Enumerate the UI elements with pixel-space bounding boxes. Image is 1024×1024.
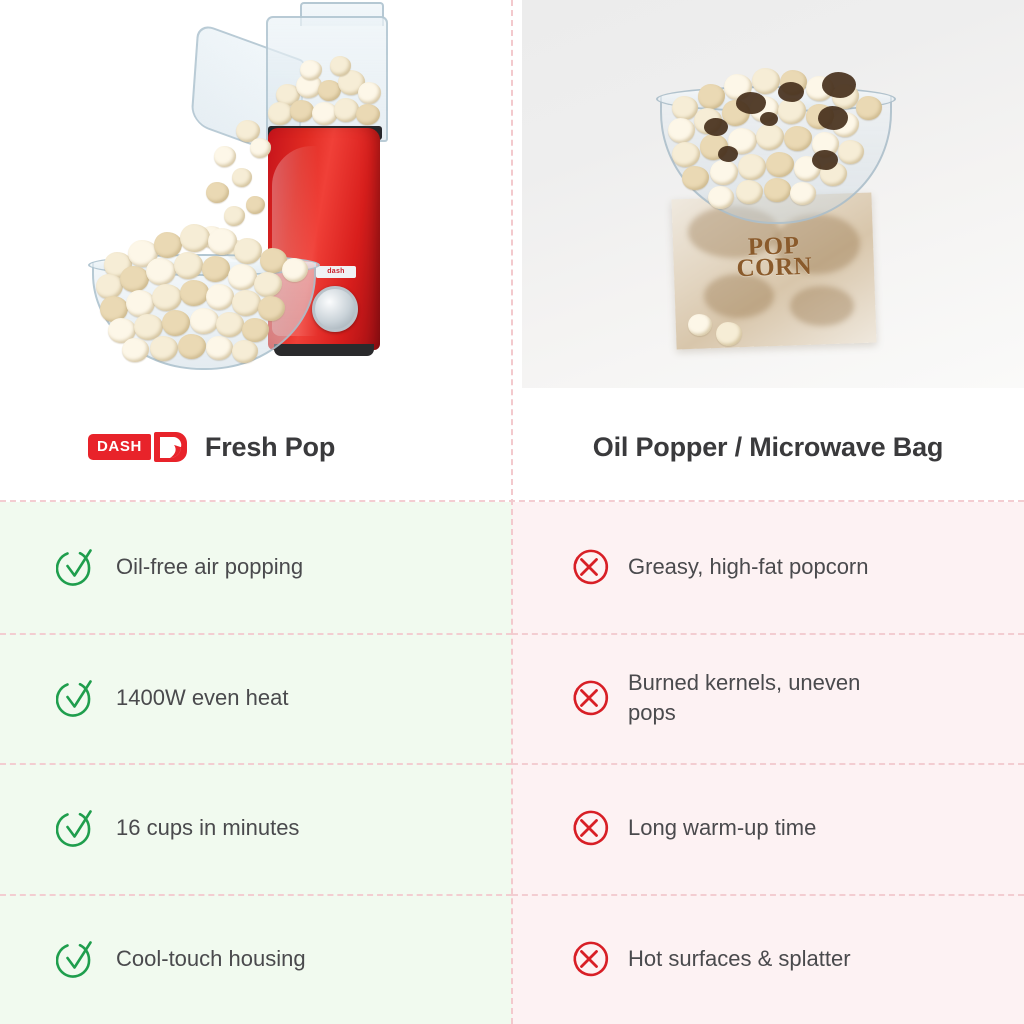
feature-text: Cool-touch housing <box>116 944 306 974</box>
check-circle-icon <box>56 546 98 588</box>
check-circle-icon <box>56 677 98 719</box>
cross-circle-icon <box>568 807 610 849</box>
column-divider <box>511 0 513 1024</box>
bag-popcorn-label: POP CORN <box>673 233 874 282</box>
cross-circle-icon <box>568 677 610 719</box>
burnt-cluster <box>704 118 728 136</box>
feature-text: 16 cups in minutes <box>116 813 299 843</box>
kernel <box>214 146 236 167</box>
feature-text: Hot surfaces & splatter <box>628 944 851 974</box>
kernel <box>206 182 229 203</box>
popper-brand-plate: dash <box>316 266 356 278</box>
burnt-cluster <box>760 112 778 126</box>
dash-brand-logo: DASH <box>88 432 187 462</box>
grease-stain <box>790 286 854 326</box>
feature-row: Burned kernels, uneven pops <box>512 633 1024 764</box>
feature-row: 1400W even heat <box>0 633 512 764</box>
check-circle-icon <box>56 938 98 980</box>
feature-row: Greasy, high-fat popcorn <box>512 502 1024 633</box>
oil-popper-photo: POP CORN <box>522 0 1024 388</box>
right-column-title: Oil Popper / Microwave Bag <box>593 432 943 463</box>
comparison-infographic: dash <box>0 0 1024 1024</box>
feature-row: Cool-touch housing <box>0 894 512 1024</box>
feature-text: Burned kernels, uneven pops <box>628 668 878 728</box>
kernel <box>232 168 252 187</box>
feature-row: Oil-free air popping <box>0 502 512 633</box>
burnt-cluster <box>718 146 738 162</box>
popper-power-knob <box>312 286 358 332</box>
feature-text: Oil-free air popping <box>116 552 303 582</box>
dash-popper-photo: dash <box>0 0 512 392</box>
kernel <box>122 338 149 362</box>
feature-row: Hot surfaces & splatter <box>512 894 1024 1024</box>
burnt-cluster <box>778 82 804 102</box>
dash-d-badge-icon <box>154 432 187 462</box>
kernel <box>180 224 210 252</box>
cross-circle-icon <box>568 938 610 980</box>
feature-text: 1400W even heat <box>116 683 288 713</box>
right-column-header: Oil Popper / Microwave Bag <box>512 392 1024 502</box>
cross-circle-icon <box>568 546 610 588</box>
burnt-cluster <box>812 150 838 170</box>
kernel <box>224 206 245 226</box>
pros-column: Oil-free air popping 1400W even heat <box>0 502 512 1024</box>
burnt-cluster <box>818 106 848 130</box>
burnt-cluster <box>736 92 766 114</box>
left-column-title: Fresh Pop <box>205 432 335 463</box>
check-circle-icon <box>56 807 98 849</box>
left-column-header: DASH Fresh Pop <box>0 392 512 502</box>
dash-wordmark: DASH <box>88 434 151 460</box>
feature-row: 16 cups in minutes <box>0 763 512 894</box>
feature-text: Greasy, high-fat popcorn <box>628 552 869 582</box>
feature-row: Long warm-up time <box>512 763 1024 894</box>
burnt-cluster <box>822 72 856 98</box>
cons-column: Greasy, high-fat popcorn Burned kernels,… <box>512 502 1024 1024</box>
kernel <box>246 196 265 214</box>
feature-text: Long warm-up time <box>628 813 816 843</box>
popper-base-foot <box>274 344 374 356</box>
